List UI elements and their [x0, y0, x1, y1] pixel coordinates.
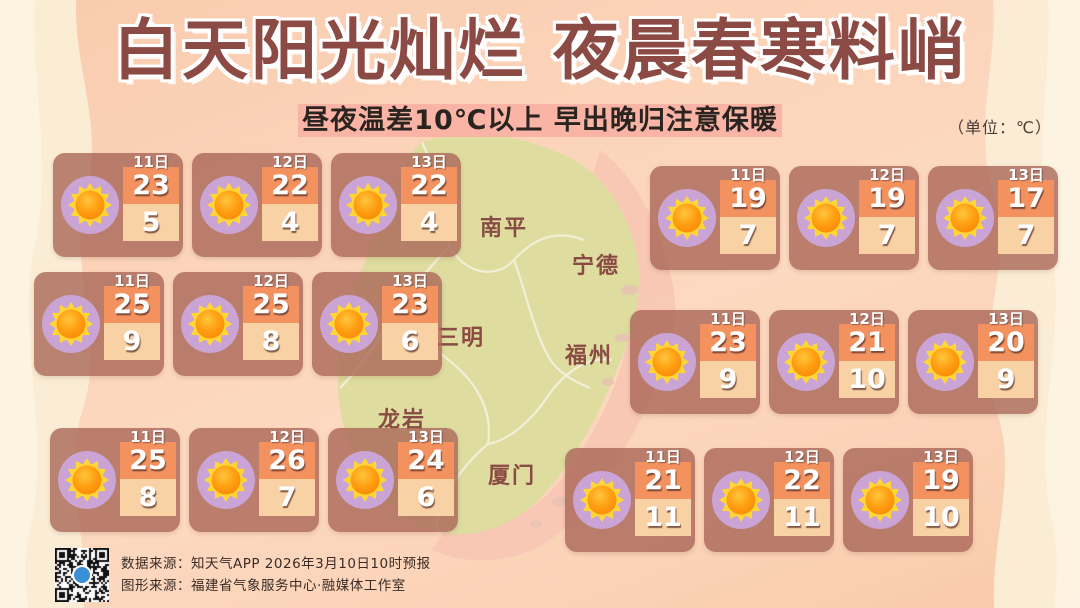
sun-icon: [571, 469, 633, 531]
forecast-card: 11日235: [53, 153, 183, 257]
high-temperature: 19: [913, 462, 969, 499]
sun-icon: [56, 449, 118, 511]
forecast-date-label: 11日: [700, 308, 756, 329]
low-temperature: 6: [398, 479, 454, 516]
sun-icon: [656, 187, 718, 249]
low-temperature: 10: [839, 361, 895, 398]
low-temperature: 7: [720, 217, 776, 254]
low-temperature: 9: [978, 361, 1034, 398]
high-temperature: 23: [700, 324, 756, 361]
forecast-date-label: 13日: [382, 270, 438, 291]
temperature-block: 13日1910: [913, 462, 969, 536]
page-subtitle: 昼夜温差10℃以上 早出晚归注意保暖: [0, 105, 1080, 137]
sun-icon: [198, 174, 260, 236]
low-temperature: 8: [120, 479, 176, 516]
forecast-card: 13日1910: [843, 448, 973, 552]
low-temperature: 11: [774, 499, 830, 536]
weather-poster: 南平 宁德 三明 福州 龙岩 厦门 白天阳光灿烂 夜晨春寒料峭 昼夜温差10℃以…: [0, 0, 1080, 608]
high-temperature: 21: [635, 462, 691, 499]
forecast-card: 12日258: [173, 272, 303, 376]
sun-icon: [337, 174, 399, 236]
map-city-label-xiamen: 厦门: [488, 458, 536, 490]
forecast-card: 12日197: [789, 166, 919, 270]
map-city-label-sanming: 三明: [437, 320, 485, 352]
low-temperature: 4: [262, 204, 318, 241]
map-city-label-nanping: 南平: [480, 210, 528, 242]
temperature-block: 13日236: [382, 286, 438, 360]
sun-icon: [914, 331, 976, 393]
temperature-block: 12日2110: [839, 324, 895, 398]
forecast-card: 12日2110: [769, 310, 899, 414]
forecast-date-label: 13日: [401, 151, 457, 172]
high-temperature: 25: [104, 286, 160, 323]
low-temperature: 7: [259, 479, 315, 516]
low-temperature: 11: [635, 499, 691, 536]
sun-icon: [334, 449, 396, 511]
high-temperature: 22: [774, 462, 830, 499]
low-temperature: 6: [382, 323, 438, 360]
temperature-block: 12日258: [243, 286, 299, 360]
forecast-date-label: 11日: [120, 426, 176, 447]
forecast-card: 12日2211: [704, 448, 834, 552]
sun-icon: [775, 331, 837, 393]
high-temperature: 23: [382, 286, 438, 323]
high-temperature: 20: [978, 324, 1034, 361]
temperature-block: 13日209: [978, 324, 1034, 398]
sun-icon: [40, 293, 102, 355]
qr-center-logo: [72, 565, 92, 585]
sun-icon: [318, 293, 380, 355]
high-temperature: 19: [720, 180, 776, 217]
forecast-card: 13日224: [331, 153, 461, 257]
page-title: 白天阳光灿烂 夜晨春寒料峭: [0, 18, 1080, 84]
forecast-card: 11日258: [50, 428, 180, 532]
footer: 数据来源：知天气APP 2026年3月10日10时预报 图形来源：福建省气象服务…: [55, 548, 431, 602]
high-temperature: 21: [839, 324, 895, 361]
temperature-block: 11日258: [120, 442, 176, 516]
low-temperature: 9: [700, 361, 756, 398]
forecast-date-label: 12日: [774, 446, 830, 467]
forecast-date-label: 11日: [123, 151, 179, 172]
low-temperature: 7: [998, 217, 1054, 254]
forecast-date-label: 12日: [839, 308, 895, 329]
temperature-block: 12日197: [859, 180, 915, 254]
low-temperature: 4: [401, 204, 457, 241]
unit-note: （单位：℃）: [948, 114, 1052, 138]
temperature-block: 13日246: [398, 442, 454, 516]
low-temperature: 9: [104, 323, 160, 360]
temperature-block: 11日197: [720, 180, 776, 254]
temperature-block: 11日239: [700, 324, 756, 398]
footer-text: 数据来源：知天气APP 2026年3月10日10时预报 图形来源：福建省气象服务…: [121, 553, 431, 598]
temperature-block: 11日235: [123, 167, 179, 241]
low-temperature: 8: [243, 323, 299, 360]
temperature-block: 12日224: [262, 167, 318, 241]
temperature-block: 12日2211: [774, 462, 830, 536]
map-city-label-ningde: 宁德: [572, 248, 620, 280]
forecast-card: 11日2111: [565, 448, 695, 552]
low-temperature: 7: [859, 217, 915, 254]
forecast-card: 11日259: [34, 272, 164, 376]
forecast-date-label: 11日: [104, 270, 160, 291]
forecast-date-label: 13日: [398, 426, 454, 447]
high-temperature: 17: [998, 180, 1054, 217]
forecast-card: 13日236: [312, 272, 442, 376]
forecast-date-label: 11日: [635, 446, 691, 467]
forecast-date-label: 12日: [243, 270, 299, 291]
footer-data-source: 数据来源：知天气APP 2026年3月10日10时预报: [121, 553, 431, 575]
temperature-block: 11日2111: [635, 462, 691, 536]
forecast-date-label: 12日: [262, 151, 318, 172]
high-temperature: 25: [120, 442, 176, 479]
temperature-block: 12日267: [259, 442, 315, 516]
high-temperature: 25: [243, 286, 299, 323]
forecast-date-label: 13日: [913, 446, 969, 467]
sun-icon: [710, 469, 772, 531]
footer-graphic-source: 图形来源：福建省气象服务中心·融媒体工作室: [121, 575, 431, 597]
high-temperature: 22: [262, 167, 318, 204]
high-temperature: 19: [859, 180, 915, 217]
high-temperature: 23: [123, 167, 179, 204]
sun-icon: [636, 331, 698, 393]
temperature-block: 13日177: [998, 180, 1054, 254]
forecast-card: 13日177: [928, 166, 1058, 270]
sun-icon: [795, 187, 857, 249]
sun-icon: [59, 174, 121, 236]
forecast-date-label: 13日: [998, 164, 1054, 185]
sun-icon: [195, 449, 257, 511]
temperature-block: 13日224: [401, 167, 457, 241]
forecast-card: 13日209: [908, 310, 1038, 414]
forecast-date-label: 13日: [978, 308, 1034, 329]
high-temperature: 24: [398, 442, 454, 479]
forecast-date-label: 11日: [720, 164, 776, 185]
forecast-card: 12日224: [192, 153, 322, 257]
forecast-date-label: 12日: [859, 164, 915, 185]
low-temperature: 5: [123, 204, 179, 241]
temperature-block: 11日259: [104, 286, 160, 360]
high-temperature: 26: [259, 442, 315, 479]
map-city-label-fuzhou: 福州: [565, 338, 613, 370]
qr-code-icon[interactable]: [55, 548, 109, 602]
subtitle-highlight: 昼夜温差10℃以上 早出晚归注意保暖: [298, 104, 782, 137]
forecast-card: 11日197: [650, 166, 780, 270]
low-temperature: 10: [913, 499, 969, 536]
forecast-card: 12日267: [189, 428, 319, 532]
sun-icon: [179, 293, 241, 355]
forecast-card: 11日239: [630, 310, 760, 414]
high-temperature: 22: [401, 167, 457, 204]
forecast-date-label: 12日: [259, 426, 315, 447]
forecast-card: 13日246: [328, 428, 458, 532]
sun-icon: [849, 469, 911, 531]
sun-icon: [934, 187, 996, 249]
